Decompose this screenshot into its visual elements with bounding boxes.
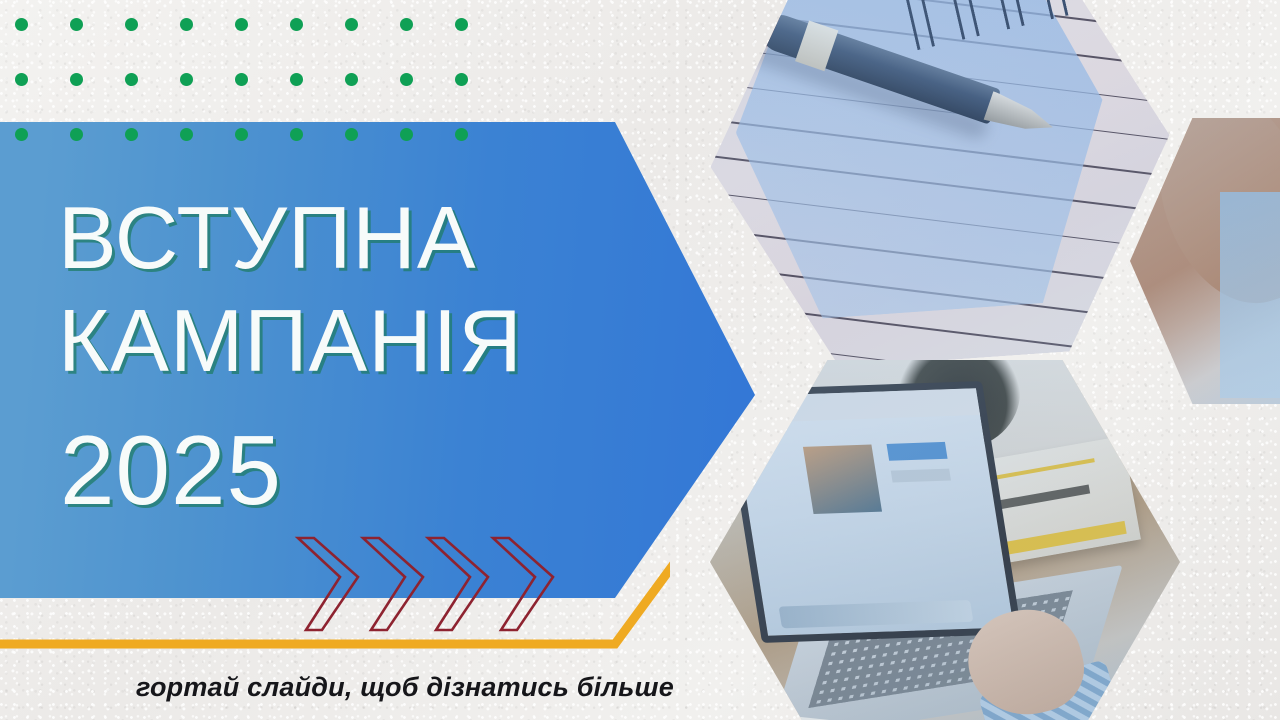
- green-dot: [235, 128, 248, 141]
- green-dot: [345, 73, 358, 86]
- green-dot: [180, 73, 193, 86]
- green-dot: [400, 73, 413, 86]
- green-dot: [345, 18, 358, 31]
- green-dot: [180, 128, 193, 141]
- laptop-work-photo: [710, 360, 1180, 720]
- green-dot: [70, 18, 83, 31]
- green-dot: [125, 18, 138, 31]
- green-dot: [455, 73, 468, 86]
- slide-canvas: ВСТУПНА КАМПАНІЯ 2025 гортай слайди, щоб…: [0, 0, 1280, 720]
- screen-button-secondary: [890, 469, 951, 483]
- green-dot: [235, 73, 248, 86]
- year-label: 2025: [60, 415, 282, 525]
- red-chevron-arrows: [292, 530, 562, 640]
- glass-surface: [1220, 192, 1280, 398]
- green-dot: [455, 18, 468, 31]
- red-chevron: [428, 538, 488, 630]
- green-dot: [400, 18, 413, 31]
- green-dot: [455, 128, 468, 141]
- green-dot: [70, 128, 83, 141]
- green-dot: [290, 18, 303, 31]
- pen-tip: [983, 90, 1057, 141]
- screen-image: [802, 445, 882, 514]
- laptop-screen: [722, 381, 1022, 643]
- green-dot: [15, 73, 28, 86]
- green-dot-grid: [0, 0, 480, 160]
- browser-toolbar: [730, 388, 980, 423]
- green-dot: [70, 73, 83, 86]
- green-dot: [235, 18, 248, 31]
- red-chevron: [493, 538, 553, 630]
- green-dot: [15, 18, 28, 31]
- green-dot: [345, 128, 358, 141]
- screen-button-primary: [886, 442, 948, 461]
- green-dot: [15, 128, 28, 141]
- photo-collage: [690, 0, 1280, 720]
- page-title: ВСТУПНА КАМПАНІЯ: [58, 186, 678, 392]
- green-dot: [290, 73, 303, 86]
- green-dot: [180, 18, 193, 31]
- green-dot: [400, 128, 413, 141]
- pen-on-notepad-photo: [696, 0, 1184, 376]
- screen-dock: [778, 600, 973, 628]
- red-chevron: [298, 538, 358, 630]
- red-chevron: [363, 538, 423, 630]
- green-dot: [125, 73, 138, 86]
- swipe-hint-caption: гортай слайди, щоб дізнатись більше: [0, 672, 810, 703]
- green-dot: [290, 128, 303, 141]
- green-dot: [125, 128, 138, 141]
